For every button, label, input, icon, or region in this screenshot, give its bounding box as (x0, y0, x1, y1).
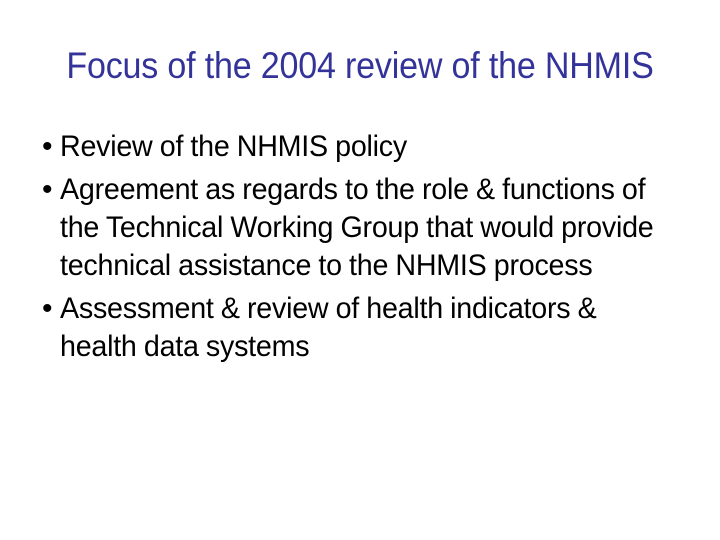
bullet-item-label: Assessment & review of health indicators… (60, 290, 656, 366)
slide-bullet-list: • Review of the NHMIS policy • Agreement… (34, 128, 684, 371)
list-item[interactable]: • Assessment & review of health indicato… (34, 290, 684, 366)
bullet-point-icon: • (34, 128, 60, 166)
list-item[interactable]: • Agreement as regards to the role & fun… (34, 171, 684, 285)
list-item[interactable]: • Review of the NHMIS policy (34, 128, 684, 166)
bullet-point-icon: • (34, 171, 60, 209)
slide-title: Focus of the 2004 review of the NHMIS (66, 43, 655, 89)
bullet-point-icon: • (34, 290, 60, 328)
presentation-slide: Focus of the 2004 review of the NHMIS • … (0, 0, 720, 540)
bullet-item-label: Agreement as regards to the role & funct… (60, 171, 656, 285)
bullet-item-label: Review of the NHMIS policy (60, 128, 656, 166)
